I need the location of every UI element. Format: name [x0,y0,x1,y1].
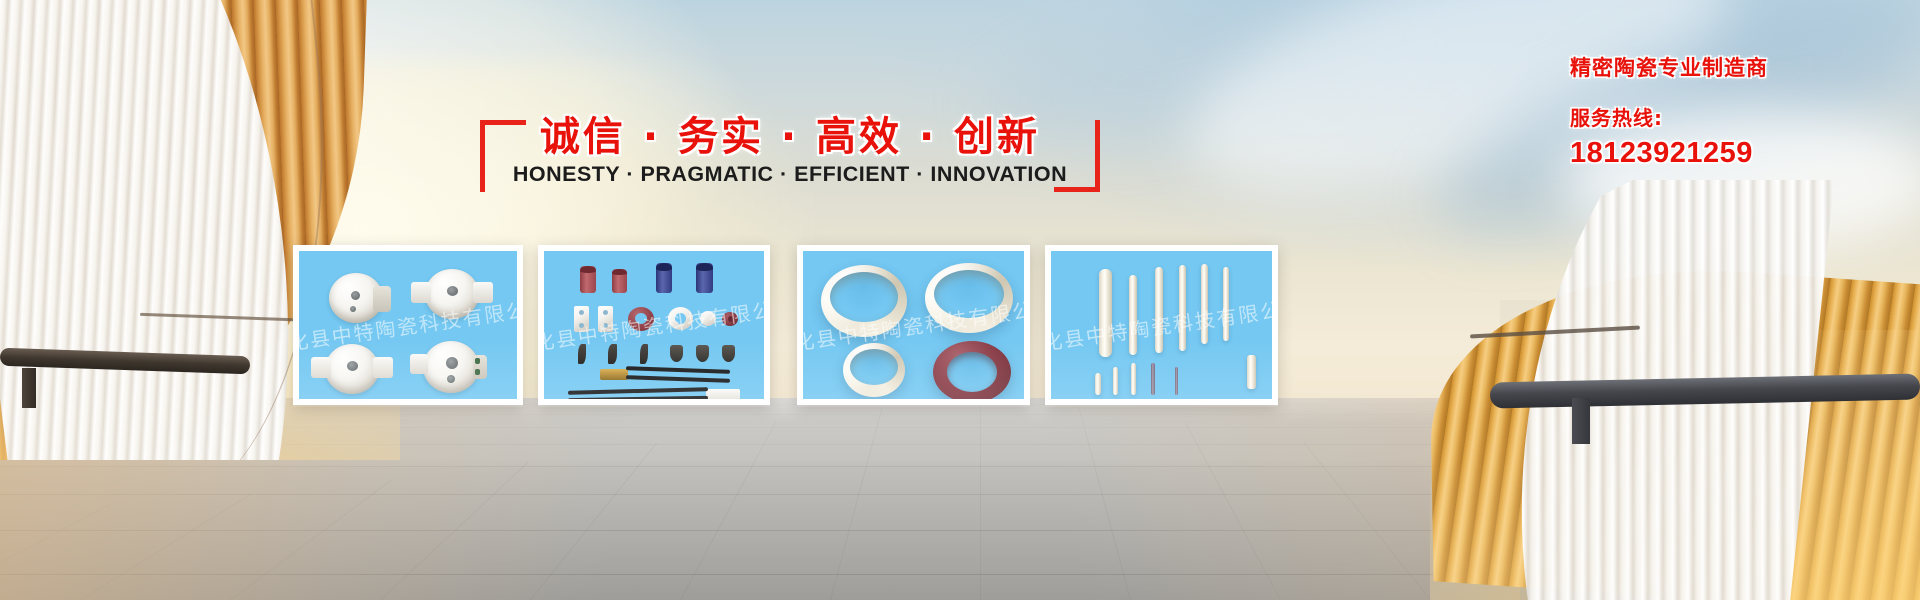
ceramic-tube-blue [696,263,713,293]
panel-4-reflection [1045,324,1278,407]
ceramic-tube-blue [656,263,672,293]
panel-3-reflection [797,324,1030,407]
lamp-holder [329,273,383,323]
ceramic-tube-red [612,269,627,293]
panel-1-reflection [293,324,523,407]
ceramic-ring-large [925,263,1013,333]
panel-2-reflection [538,324,770,407]
product-panel-row: 新化县中特陶瓷科技有限公司 [0,0,1920,600]
lamp-holder [425,269,479,319]
ceramic-tube-red [580,266,596,293]
promotional-banner: 诚信 · 务实 · 高效 · 创新 HONESTY · PRAGMATIC · … [0,0,1920,600]
